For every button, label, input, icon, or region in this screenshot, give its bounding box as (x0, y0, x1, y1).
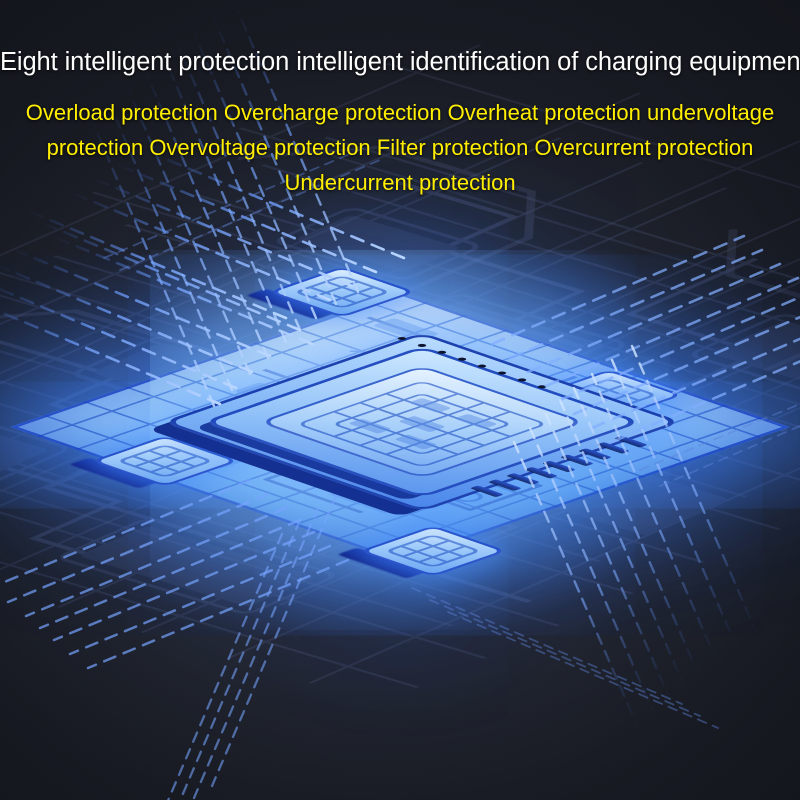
page-title: Eight intelligent protection intelligent… (0, 0, 800, 77)
product-banner: Eight intelligent protection intelligent… (0, 0, 800, 800)
banner-text: Eight intelligent protection intelligent… (0, 0, 800, 200)
protection-list-text: Overload protection Overcharge protectio… (16, 77, 784, 200)
